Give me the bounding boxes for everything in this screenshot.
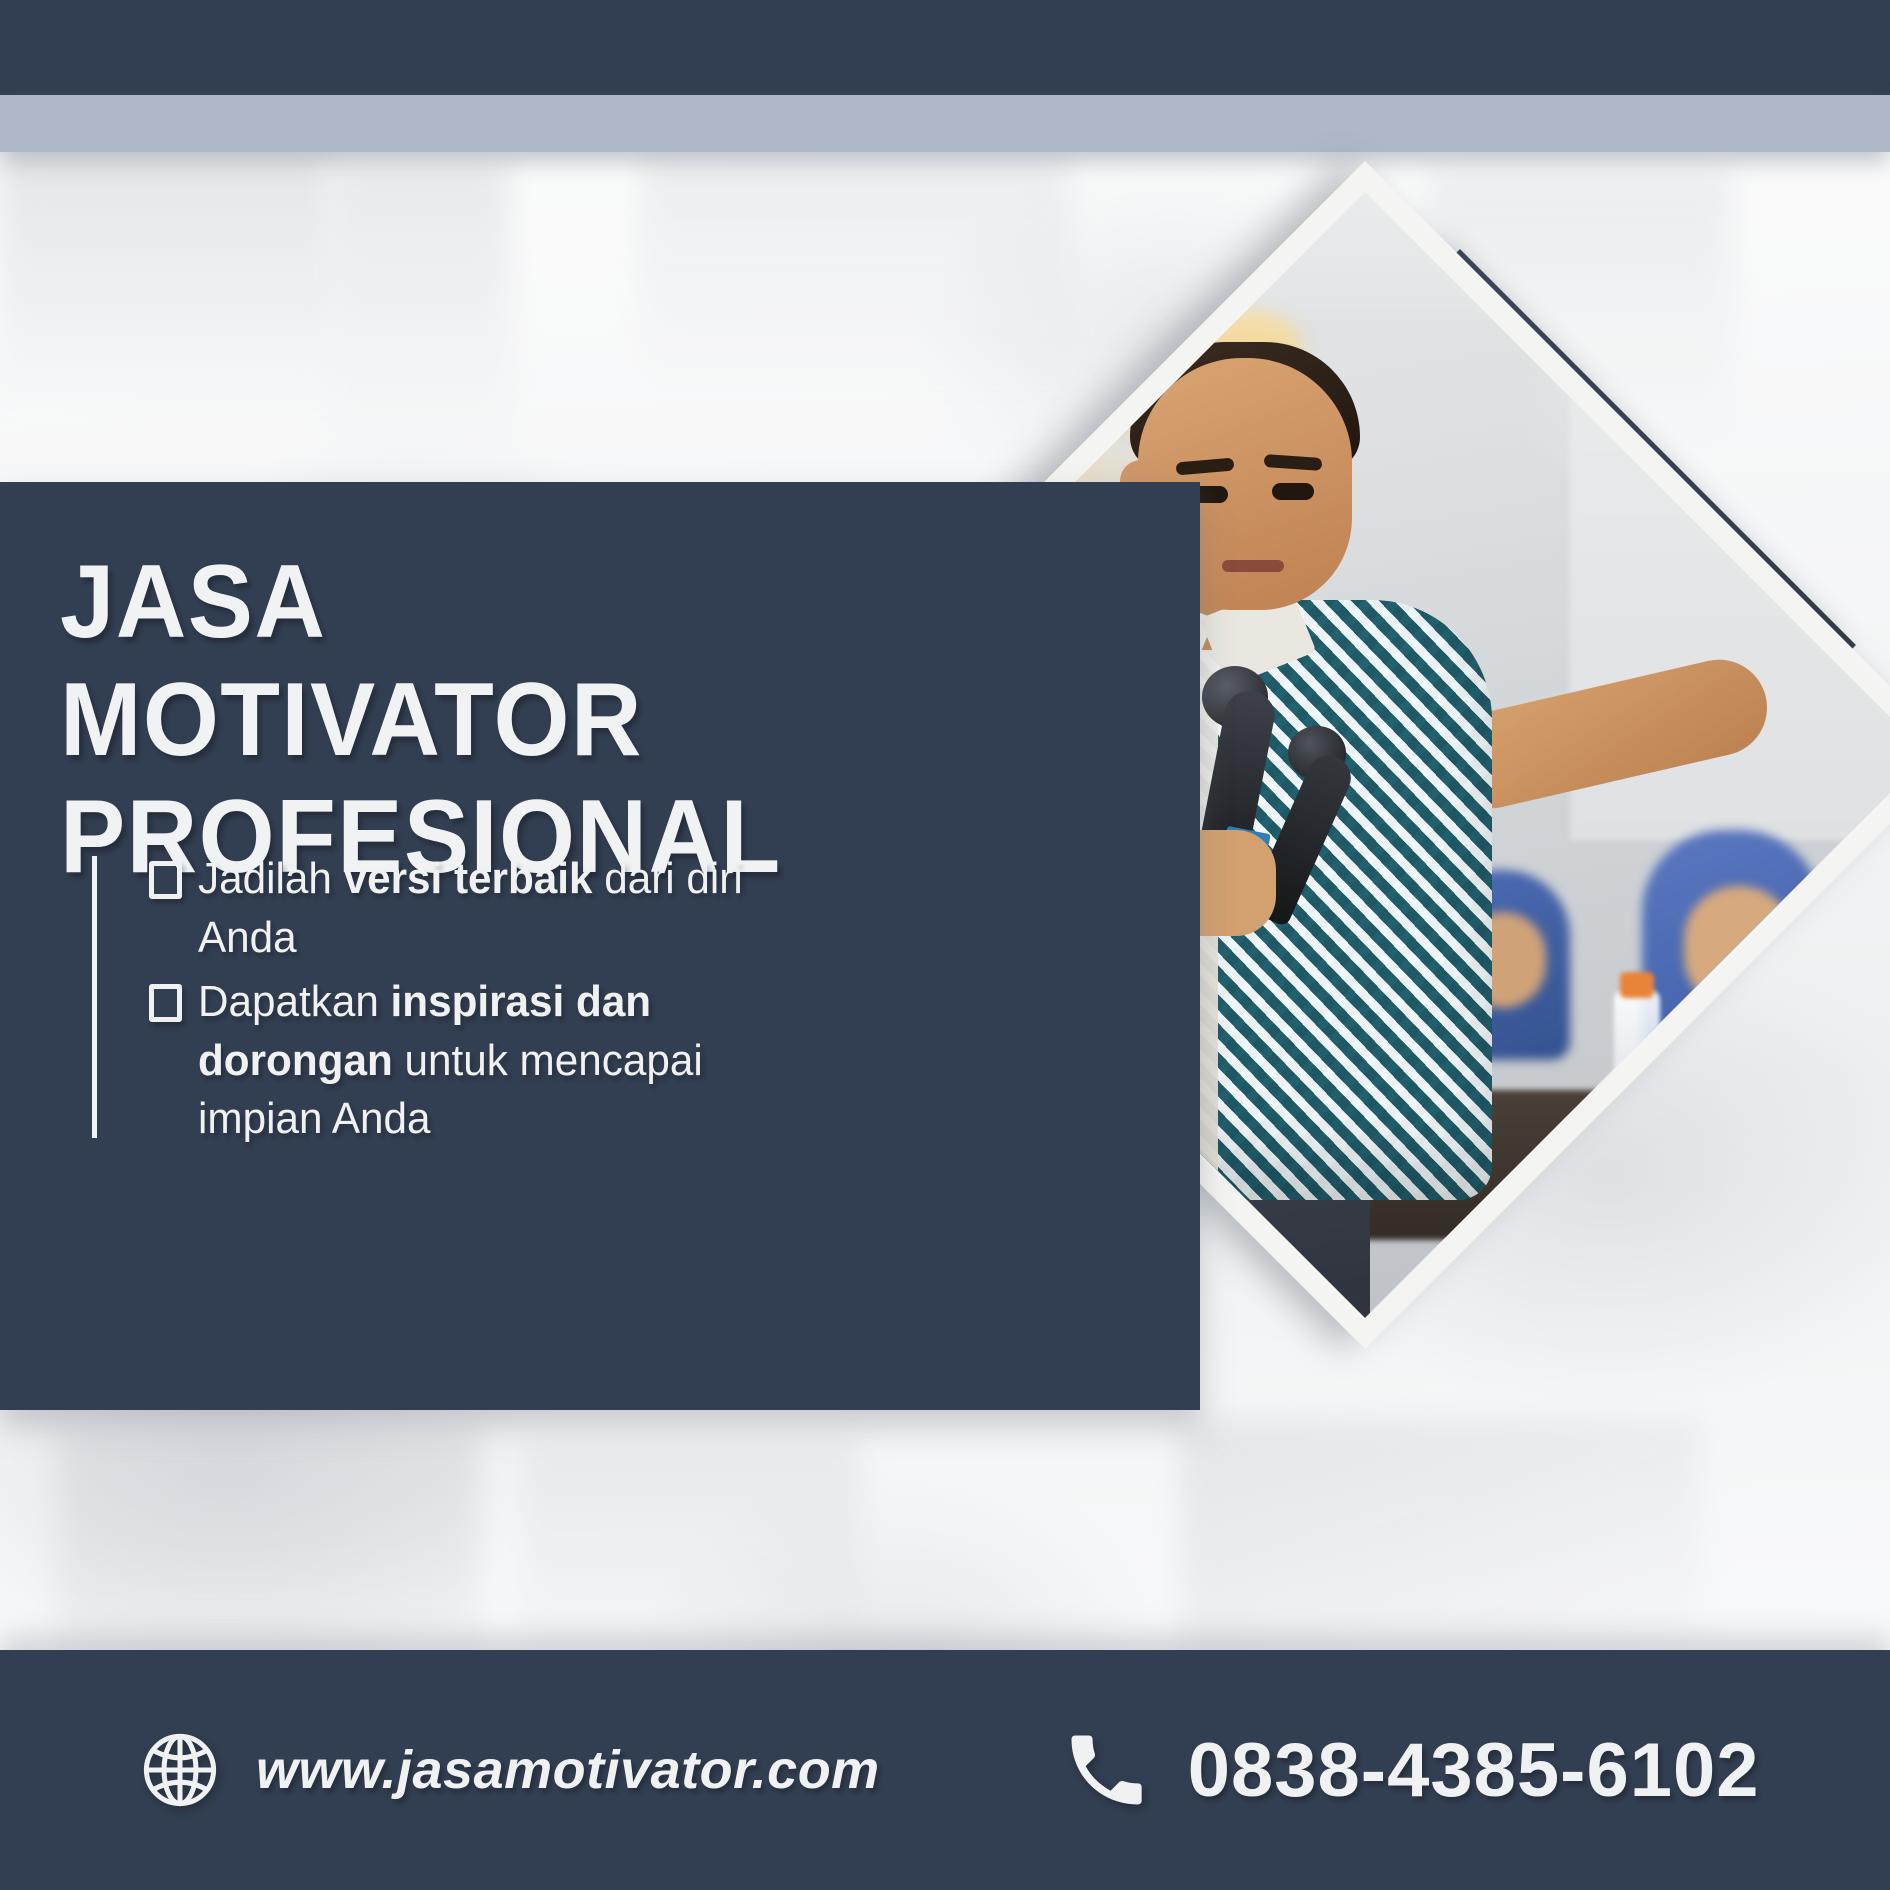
contact-footer: www.jasamotivator.com 0838-4385-6102 — [0, 1650, 1890, 1890]
phone-icon — [1060, 1724, 1152, 1816]
top-light-band — [0, 95, 1890, 152]
top-navy-band — [0, 0, 1890, 95]
checkbox-icon — [149, 861, 182, 899]
scene-bottle-cap — [1620, 972, 1654, 998]
phone-number: 0838-4385-6102 — [1188, 1727, 1760, 1814]
phone-contact[interactable]: 0838-4385-6102 — [1060, 1724, 1760, 1816]
website-url: www.jasamotivator.com — [256, 1739, 880, 1801]
benefit-text-2: Dapatkan inspirasi dan dorongan untuk me… — [198, 973, 813, 1149]
speaker-eye-right — [1272, 483, 1314, 500]
checkbox-icon — [149, 984, 182, 1022]
content-panel: JASA MOTIVATOR PROFESIONAL Jadilah versi… — [0, 482, 1200, 1410]
background-streak — [330, 160, 510, 460]
background-streak — [640, 150, 1070, 390]
globe-icon — [138, 1728, 222, 1812]
benefit-2-lead: Dapatkan — [198, 977, 391, 1026]
speaker-mouth — [1222, 560, 1284, 572]
benefits-section: Jadilah versi terbaik dari diri Anda Dap… — [92, 850, 839, 1155]
list-item: Jadilah versi terbaik dari diri Anda — [149, 850, 839, 967]
background-streak — [0, 150, 330, 410]
benefits-list: Jadilah versi terbaik dari diri Anda Dap… — [149, 850, 839, 1155]
benefit-text-1: Jadilah versi terbaik dari diri Anda — [198, 850, 813, 967]
headline-line-2: MOTIVATOR — [60, 662, 1056, 780]
benefit-1-bold: versi terbaik — [344, 854, 593, 903]
accent-rule — [92, 856, 97, 1138]
promotional-poster: JASA MOTIVATOR PROFESIONAL Jadilah versi… — [0, 0, 1890, 1890]
website-contact[interactable]: www.jasamotivator.com — [138, 1728, 880, 1812]
list-item: Dapatkan inspirasi dan dorongan untuk me… — [149, 973, 839, 1149]
benefit-1-lead: Jadilah — [198, 854, 344, 903]
page-title: JASA MOTIVATOR PROFESIONAL — [60, 544, 1120, 897]
headline-line-1: JASA — [60, 544, 1056, 662]
